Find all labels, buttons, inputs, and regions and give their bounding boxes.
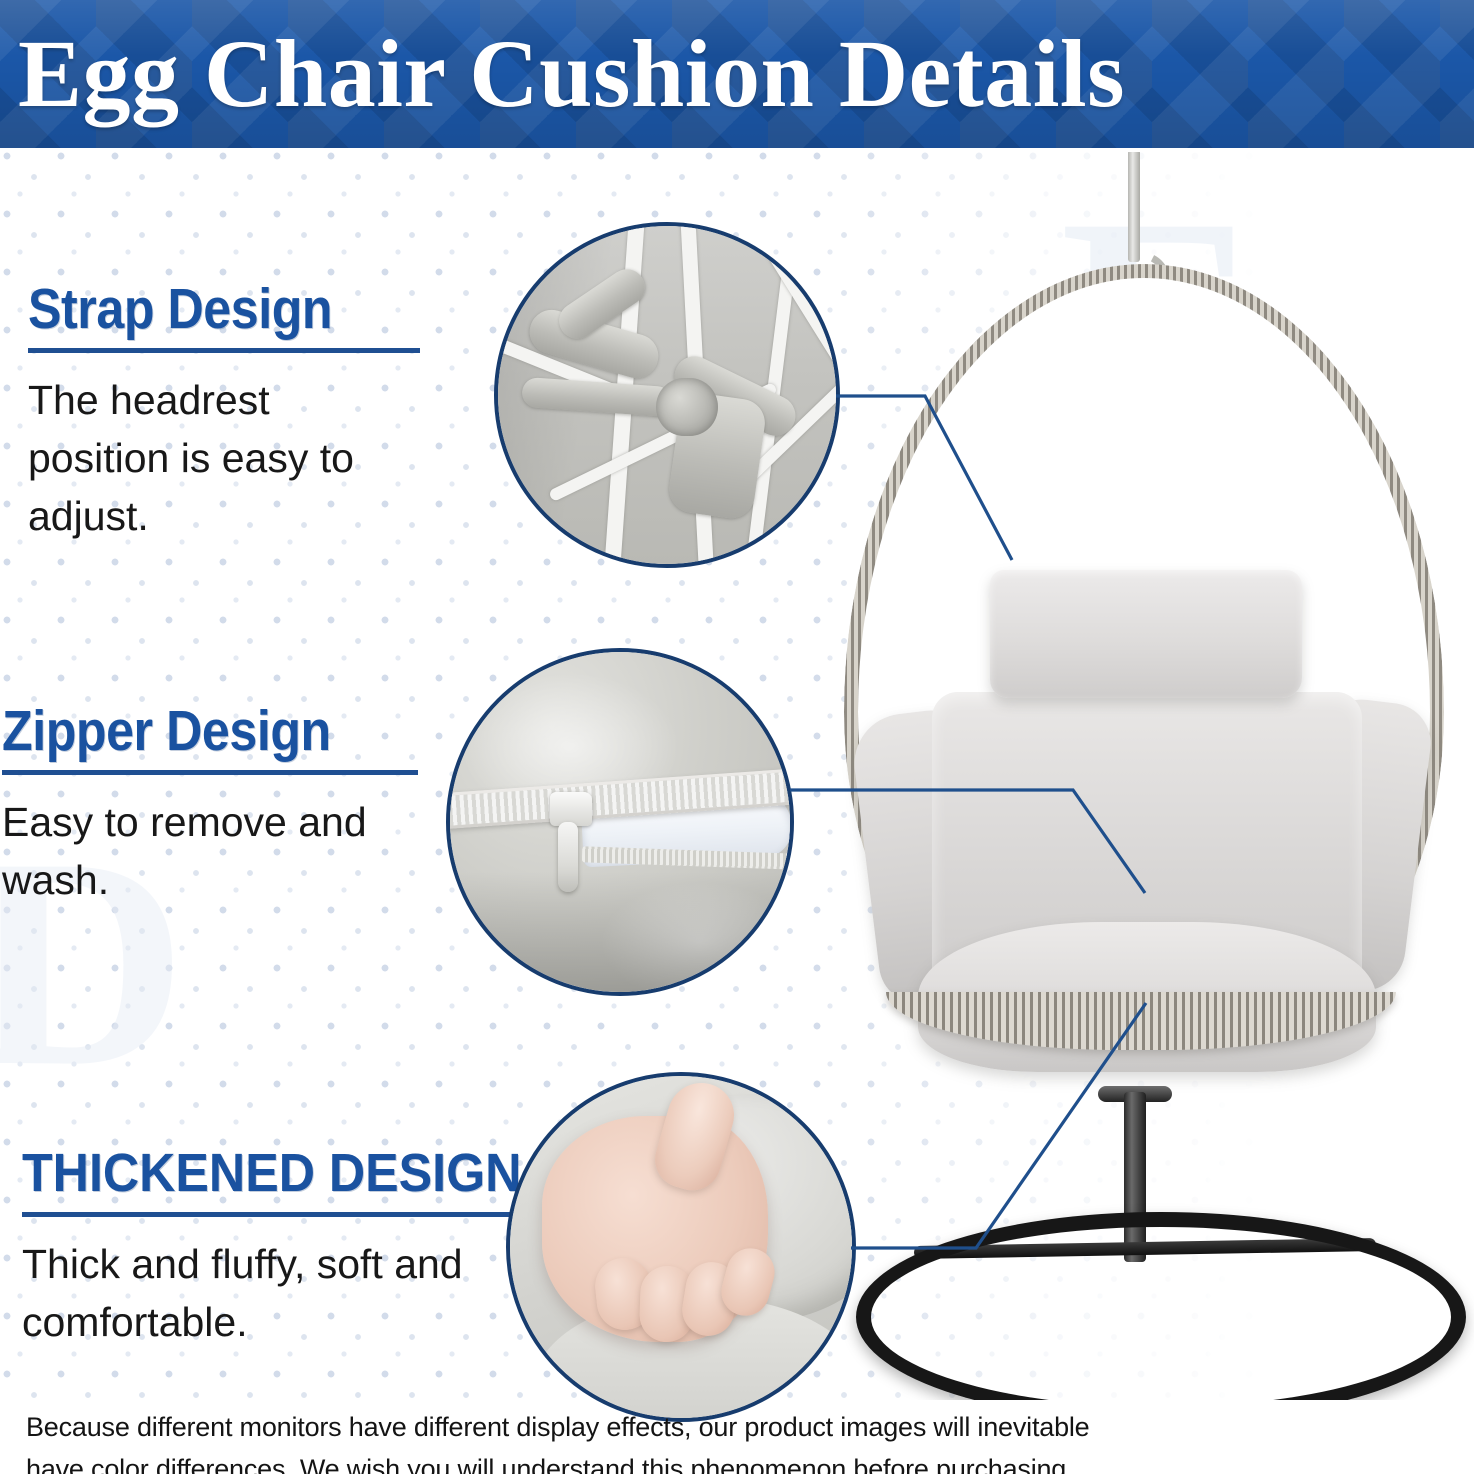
detail-photo-strap [494,222,840,568]
header-banner: Egg Chair Cushion Details [0,0,1474,148]
feature-block-zipper: Zipper Design Easy to remove and wash. [2,700,418,909]
feature-block-thickened: THICKENED DESIGN Thick and fluffy, soft … [22,1142,516,1351]
feature-body-thickened: Thick and fluffy, soft and comfortable. [22,1235,516,1351]
feature-body-zipper: Easy to remove and wash. [2,793,418,909]
page-title: Egg Chair Cushion Details [18,18,1470,130]
strap-knot-image [498,226,836,564]
product-image-egg-chair [822,152,1474,1400]
feature-block-strap: Strap Design The headrest position is ea… [28,278,420,545]
feature-heading-zipper: Zipper Design [2,700,368,762]
zipper-slider [550,792,592,826]
zipper-image [450,652,790,992]
detail-photo-thickened [506,1072,856,1422]
feature-heading-strap: Strap Design [28,278,373,340]
hand-pressing-cushion-image [510,1076,852,1418]
disclaimer-text: Because different monitors have differen… [26,1406,1126,1474]
hanging-rod [1128,152,1140,262]
heading-rule [22,1212,516,1217]
headrest-pillow [990,570,1302,698]
heading-rule [28,348,420,353]
infographic-page: D E Egg Chair Cushion Details Strap Desi… [0,0,1474,1474]
feature-heading-thickened: THICKENED DESIGN [22,1142,481,1204]
detail-photo-zipper [446,648,794,996]
feature-body-strap: The headrest position is easy to adjust. [28,371,420,545]
heading-rule [2,770,418,775]
